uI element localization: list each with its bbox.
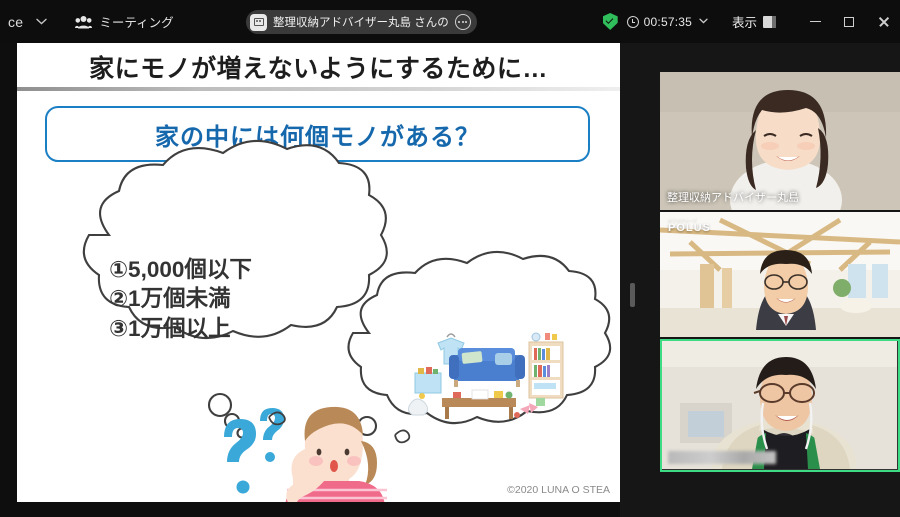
meeting-window: ce ミーティング 整理収 bbox=[0, 0, 900, 517]
window-controls bbox=[798, 0, 900, 43]
participant-video-3 bbox=[662, 341, 897, 469]
shield-check-icon bbox=[603, 13, 618, 30]
timer-value: 00:57:35 bbox=[644, 15, 692, 29]
polus-watermark: ポラスグループ POLUS bbox=[668, 218, 711, 234]
bubble-tail-dot-large bbox=[209, 394, 231, 416]
layout-icon bbox=[763, 16, 776, 28]
copyright-notice: ©2020 LUNA O STEA bbox=[507, 484, 610, 496]
options-list: ①5,000個以下 ②1万個未満 ③1万個以上 bbox=[109, 255, 252, 343]
minimize-icon[interactable] bbox=[798, 0, 832, 43]
list-item: ②1万個未満 bbox=[109, 284, 252, 313]
meeting-timer[interactable]: 00:57:35 bbox=[627, 15, 708, 29]
meeting-label: ミーティング bbox=[99, 12, 173, 31]
people-icon bbox=[75, 15, 92, 29]
restore-icon[interactable] bbox=[832, 0, 866, 43]
video-tile-active-speaker[interactable] bbox=[660, 339, 900, 472]
list-item: ①5,000個以下 bbox=[109, 255, 252, 284]
question-mark-small bbox=[260, 408, 284, 462]
video-strip: 整理収納アドバイザー丸島 bbox=[620, 43, 900, 517]
view-layout-button[interactable]: 表示 bbox=[732, 12, 776, 31]
chevron-down-icon[interactable] bbox=[29, 10, 53, 34]
resize-handle[interactable] bbox=[630, 283, 635, 307]
view-label: 表示 bbox=[732, 12, 757, 31]
meeting-nav-item[interactable]: ミーティング bbox=[75, 12, 173, 31]
share-owner-label: 整理収納アドバイザー丸島 さんの bbox=[273, 14, 449, 30]
slide-illustrations bbox=[17, 43, 620, 502]
video-tile[interactable]: 整理収納アドバイザー丸島 bbox=[660, 72, 900, 210]
titlebar-left-group: ce ミーティング bbox=[0, 10, 174, 34]
title-bar: ce ミーティング 整理収 bbox=[0, 0, 900, 43]
participant-name-label: 整理収納アドバイザー丸島 bbox=[664, 188, 802, 206]
app-name-label[interactable]: ce bbox=[2, 14, 29, 30]
screen-share-icon bbox=[250, 14, 267, 31]
screen-share-indicator[interactable]: 整理収納アドバイザー丸島 さんの bbox=[246, 10, 477, 34]
titlebar-right-group: 00:57:35 表示 bbox=[603, 0, 900, 43]
bookshelf-illustration bbox=[529, 333, 563, 398]
chevron-down-icon[interactable] bbox=[699, 16, 708, 27]
close-icon[interactable] bbox=[866, 0, 900, 43]
participant-name-label-redacted bbox=[668, 451, 776, 464]
list-item: ③1万個以上 bbox=[109, 314, 252, 343]
polus-watermark-main: POLUS bbox=[668, 222, 711, 234]
clock-icon bbox=[627, 16, 639, 28]
shared-slide[interactable]: 家にモノが増えないようにするために… 家の中には何個モノがある？ bbox=[17, 43, 620, 502]
video-tile[interactable]: ポラスグループ POLUS bbox=[660, 212, 900, 337]
more-horizontal-icon[interactable] bbox=[455, 14, 471, 30]
